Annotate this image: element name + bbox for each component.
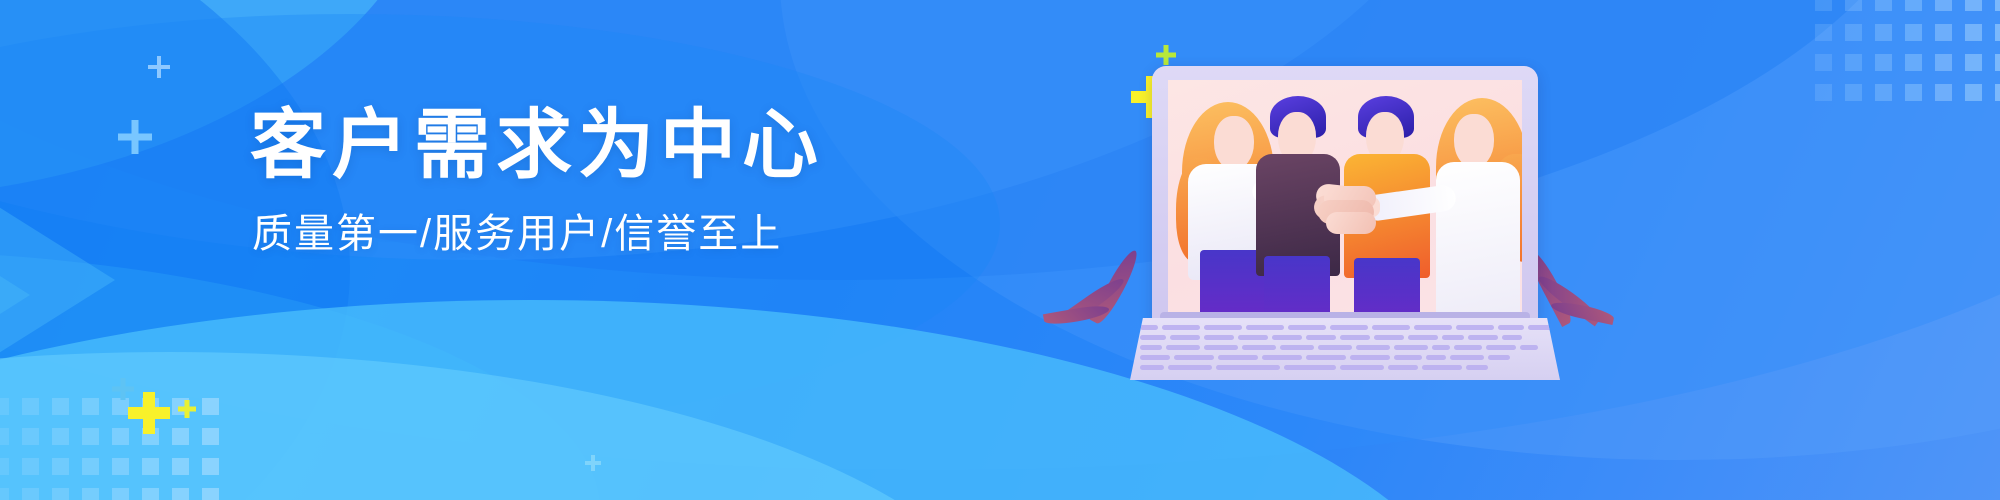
dot-grid-cell [1935,0,1952,11]
chevron-shape-1 [0,170,115,390]
keyboard-key [1466,365,1488,370]
keyboard-key [1520,345,1538,350]
keyboard-key [1528,325,1554,330]
keyboard-key [1488,355,1510,360]
keyboard-key [1468,335,1498,340]
dot-grid-cell [52,488,69,500]
keyboard-key [1140,335,1166,340]
dot-grid-cell [1935,54,1952,71]
keyboard-key [1140,365,1164,370]
keyboard-key [1246,325,1284,330]
laptop-illustration [1130,50,1560,370]
promo-banner: 客户需求为中心 质量第一/服务用户/信誉至上 [0,0,2000,500]
keyboard-key [1140,355,1170,360]
keyboard-key [1140,345,1162,350]
keyboard-key [1394,345,1428,350]
head-woman-left [1214,116,1254,170]
dot-grid-cell [0,488,9,500]
dot-grid-cell [172,428,189,445]
torso-white-dress [1436,162,1520,312]
keyboard-key [1166,345,1200,350]
dot-grid-cell [22,488,39,500]
plus-cyan-bottom-right-icon [585,455,601,471]
laptop-keyboard [1130,318,1560,380]
dot-grid-cell [1965,54,1982,71]
dot-grid-cell [1845,54,1862,71]
keyboard-key [1432,345,1450,350]
dot-grid-cell [1905,24,1922,41]
keyboard-key [1454,345,1482,350]
dot-grid-cell [52,398,69,415]
keyboard-key [1204,345,1238,350]
legs-woman-left [1200,250,1264,312]
dot-grid-cell [1815,0,1832,11]
dot-grid-cell [1905,84,1922,101]
dot-grid-cell [172,488,189,500]
legs-man-navy [1264,256,1330,312]
hand-stack-3 [1326,212,1376,234]
dot-grid-cell [1815,54,1832,71]
keyboard-key [1350,355,1390,360]
keyboard-key [1502,335,1522,340]
dot-grid-cell [112,398,129,415]
dot-grid-cell [1965,84,1982,101]
keyboard-key [1262,355,1302,360]
dot-grid-cell [0,458,9,475]
laptop-screen [1168,80,1522,312]
keyboard-key [1356,345,1390,350]
dot-grid-cell [82,428,99,445]
dot-grid-cell [1815,24,1832,41]
plus-white-small-top-left-icon [148,56,170,78]
plus-white-medium-left-icon [118,120,152,154]
dot-grid-cell [1875,24,1892,41]
dot-grid-cell [112,428,129,445]
keyboard-key [1330,325,1368,330]
dot-grid-cell [82,458,99,475]
dot-grid-cell [1815,84,1832,101]
dot-grid-cell [202,398,219,415]
keyboard-key [1284,365,1336,370]
keyboard-key [1340,365,1384,370]
dot-grid-cell [1995,84,2000,101]
dot-grid-cell [1845,24,1862,41]
keyboard-key [1442,335,1464,340]
keyboard-key [1374,335,1404,340]
dot-grid-cell [1995,54,2000,71]
keyboard-key [1388,365,1418,370]
keyboard-key [1306,335,1336,340]
keyboard-key [1498,325,1524,330]
dot-grid-cell [1965,0,1982,11]
banner-headline: 客户需求为中心 [250,108,870,184]
keyboard-key [1394,355,1422,360]
keyboard-key [1450,355,1484,360]
dot-grid-cell [0,398,9,415]
keyboard-key [1204,325,1242,330]
keyboard-key [1280,345,1314,350]
dot-grid-cell [112,488,129,500]
keyboard-key [1272,335,1302,340]
dot-grid-cell [22,428,39,445]
keyboard-key [1422,365,1462,370]
dot-grid-cell [142,488,159,500]
keyboard-key [1238,335,1268,340]
dot-grid-cell [172,458,189,475]
keyboard-key [1408,335,1438,340]
keyboard-key [1486,345,1516,350]
dot-grid-cell [1875,0,1892,11]
keyboard-key [1168,365,1212,370]
banner-copy: 客户需求为中心 质量第一/服务用户/信誉至上 [250,108,870,254]
keyboard-key [1456,325,1494,330]
keyboard-key [1242,345,1276,350]
dot-grid-cell [1845,84,1862,101]
dot-grid-cell [202,428,219,445]
dot-grid-cell [1995,24,2000,41]
banner-subheadline: 质量第一/服务用户/信誉至上 [252,214,870,254]
dot-grid-cell [202,488,219,500]
dot-grid-cell [1905,0,1922,11]
dot-grid-cell [1935,24,1952,41]
keyboard-key [1340,335,1370,340]
keyboard-key [1372,325,1410,330]
keyboard-key [1414,325,1452,330]
dot-grid-cell [1905,54,1922,71]
keyboard-key [1288,325,1326,330]
dot-grid-cell [1875,84,1892,101]
dot-grid-cell [0,428,9,445]
keyboard-key [1140,325,1158,330]
keyboard-key [1204,335,1234,340]
keyboard-key [1174,355,1214,360]
dot-grid-cell [22,458,39,475]
dot-grid-cell [202,458,219,475]
keyboard-key [1170,335,1200,340]
dot-grid-cell [82,398,99,415]
dot-grid-cell [1845,0,1862,11]
keyboard-key [1162,325,1200,330]
dot-grid-cell [1965,24,1982,41]
keyboard-key [1216,365,1280,370]
keyboard-key [1306,355,1346,360]
dot-grid-cell [1935,84,1952,101]
keyboard-key [1318,345,1352,350]
laptop-lid [1152,66,1538,324]
dot-grid-cell [52,458,69,475]
plus-yellow-small-bottom-left-icon [178,400,196,418]
dot-grid-cell [112,458,129,475]
keyboard-key [1218,355,1258,360]
keyboard-key [1426,355,1446,360]
legs-man-orange [1354,258,1420,312]
plus-yellow-large-bottom-left-icon [128,392,170,434]
dot-grid-cell [82,488,99,500]
dot-grid-cell [1875,54,1892,71]
dot-grid-cell [142,458,159,475]
dot-grid-cell [52,428,69,445]
dot-grid-cell [22,398,39,415]
dot-grid-cell [1995,0,2000,11]
head-woman-right [1454,114,1494,168]
